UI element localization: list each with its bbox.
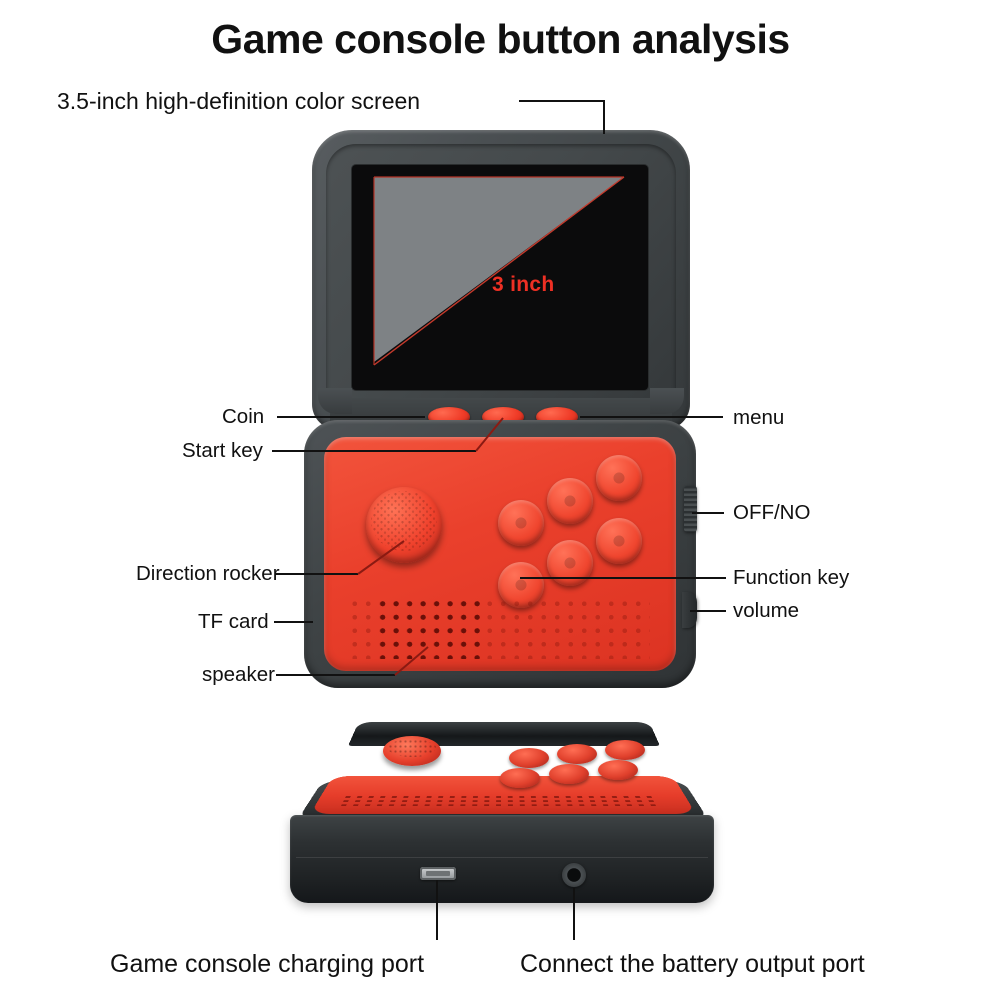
bottom-view-joystick[interactable] bbox=[383, 736, 441, 766]
direction-rocker-joystick[interactable] bbox=[366, 487, 442, 563]
callout-screen-spec: 3.5-inch high-definition color screen bbox=[57, 90, 420, 113]
bottom-view-joystick-texture bbox=[388, 739, 436, 757]
callout-volume: volume bbox=[733, 601, 799, 622]
callout-speaker: speaker bbox=[202, 665, 275, 686]
page-title: Game console button analysis bbox=[0, 16, 1001, 63]
micro-usb-charging-port bbox=[420, 867, 456, 880]
volume-control[interactable] bbox=[682, 592, 697, 628]
function-button-5[interactable] bbox=[547, 540, 593, 586]
bottom-view-speaker-grille bbox=[340, 796, 664, 808]
bottom-view-button-1[interactable] bbox=[509, 748, 549, 768]
bottom-view-button-4[interactable] bbox=[500, 768, 540, 788]
diagram-canvas: Game console button analysis 3 inch bbox=[0, 0, 1001, 1001]
battery-output-jack-port bbox=[562, 863, 586, 887]
callout-direction-rocker: Direction rocker bbox=[136, 564, 280, 585]
off-no-power-switch[interactable] bbox=[684, 486, 697, 532]
bottom-view-button-5[interactable] bbox=[549, 764, 589, 784]
speaker-grille bbox=[348, 597, 650, 659]
callout-off-no: OFF/NO bbox=[733, 503, 810, 524]
joystick-knurl-texture bbox=[371, 491, 437, 551]
function-button-2[interactable] bbox=[547, 478, 593, 524]
callout-charging-port: Game console charging port bbox=[110, 952, 424, 977]
callout-battery-output-port: Connect the battery output port bbox=[520, 952, 865, 977]
function-button-4[interactable] bbox=[596, 518, 642, 564]
bottom-view-button-6[interactable] bbox=[598, 760, 638, 780]
callout-menu: menu bbox=[733, 408, 784, 429]
callout-coin: Coin bbox=[222, 407, 264, 428]
bottom-view-button-2[interactable] bbox=[557, 744, 597, 764]
callout-start-key: Start key bbox=[182, 441, 263, 462]
callout-function-key: Function key bbox=[733, 568, 849, 589]
bottom-view-front-face bbox=[290, 815, 714, 903]
callout-tf-card: TF card bbox=[198, 612, 269, 633]
bottom-view-seam-line bbox=[296, 857, 708, 858]
console-display: 3 inch bbox=[352, 165, 648, 390]
function-button-3[interactable] bbox=[498, 500, 544, 546]
display-diagonal-label: 3 inch bbox=[492, 273, 554, 297]
bottom-view-button-3[interactable] bbox=[605, 740, 645, 760]
speaker-grille-open-holes bbox=[376, 597, 488, 659]
function-button-1[interactable] bbox=[596, 455, 642, 501]
